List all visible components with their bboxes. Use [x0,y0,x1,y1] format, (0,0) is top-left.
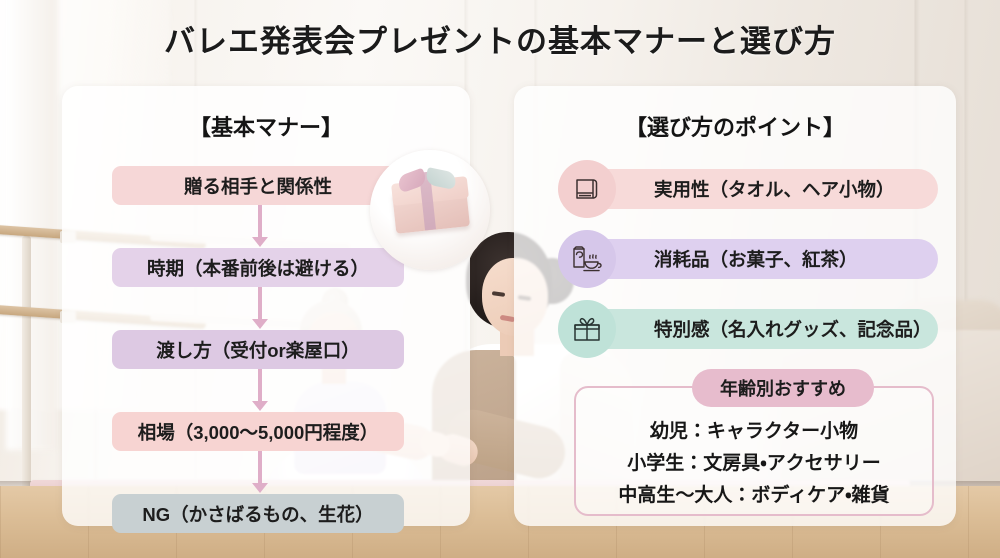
manners-flow-list: 贈る相手と関係性 時期（本番前後は避ける） 渡し方（受付or楽屋口） 相場（3,… [112,166,412,533]
flow-arrow-down-icon [258,451,262,484]
selection-points-list: 実用性（タオル、ヘア小物） 消耗品（お菓子、紅茶） [558,160,938,370]
flow-arrow-down-icon [258,287,262,320]
point-label-specialness[interactable]: 特別感（名入れグッズ、記念品） [580,309,938,349]
flow-step-3[interactable]: 渡し方（受付or楽屋口） [112,330,404,369]
flow-step: NG（かさばるもの、生花） [112,494,412,533]
age-line-elementary: 小学生：文房具・アクセサリー [590,448,918,479]
basic-manners-panel: 【基本マナー】 贈る相手と関係性 時期（本番前後は避ける） 渡し方（受付or楽屋… [62,86,470,526]
curtain [6,0,58,450]
age-line-teen-adult: 中高生〜大人：ボディケア・雑貨 [590,480,918,511]
infographic-canvas: バレエ発表会プレゼントの基本マナーと選び方 【基本マナー】 贈る相手と関係性 時… [0,0,1000,558]
point-row: 特別感（名入れグッズ、記念品） [558,300,938,358]
age-recommendation-lines: 幼児：キャラクター小物 小学生：文房具・アクセサリー 中高生〜大人：ボディケア・… [576,416,932,511]
flow-step-4[interactable]: 相場（3,000〜5,000円程度） [112,412,404,451]
gift-icon [558,300,616,358]
flow-step: 時期（本番前後は避ける） [112,248,412,287]
flow-arrow-down-icon [258,369,262,402]
selection-points-heading: 【選び方のポイント】 [514,110,956,142]
point-label-practicality[interactable]: 実用性（タオル、ヘア小物） [580,169,938,209]
flow-step-2[interactable]: 時期（本番前後は避ける） [112,248,404,287]
point-label-consumables[interactable]: 消耗品（お菓子、紅茶） [580,239,938,279]
flow-arrow-down-icon [258,205,262,238]
age-line-preschool: 幼児：キャラクター小物 [590,416,918,447]
flow-step: 贈る相手と関係性 [112,166,412,205]
point-row: 消耗品（お菓子、紅茶） [558,230,938,288]
age-recommendation-box: 年齢別おすすめ 幼児：キャラクター小物 小学生：文房具・アクセサリー 中高生〜大… [574,386,934,516]
selection-points-panel: 【選び方のポイント】 実用性（タオル、ヘア小物） 消耗品（お菓子、紅茶） [514,86,956,526]
basic-manners-heading: 【基本マナー】 [62,110,470,142]
point-row: 実用性（タオル、ヘア小物） [558,160,938,218]
page-title: バレエ発表会プレゼントの基本マナーと選び方 [0,16,1000,61]
flow-step-1[interactable]: 贈る相手と関係性 [112,166,404,205]
tea-snack-icon [558,230,616,288]
towel-icon [558,160,616,218]
flow-step: 渡し方（受付or楽屋口） [112,330,412,369]
age-recommendation-badge: 年齢別おすすめ [692,369,874,407]
flow-step-5[interactable]: NG（かさばるもの、生花） [112,494,404,533]
gift-box-photo [370,150,490,270]
flow-step: 相場（3,000〜5,000円程度） [112,412,412,451]
